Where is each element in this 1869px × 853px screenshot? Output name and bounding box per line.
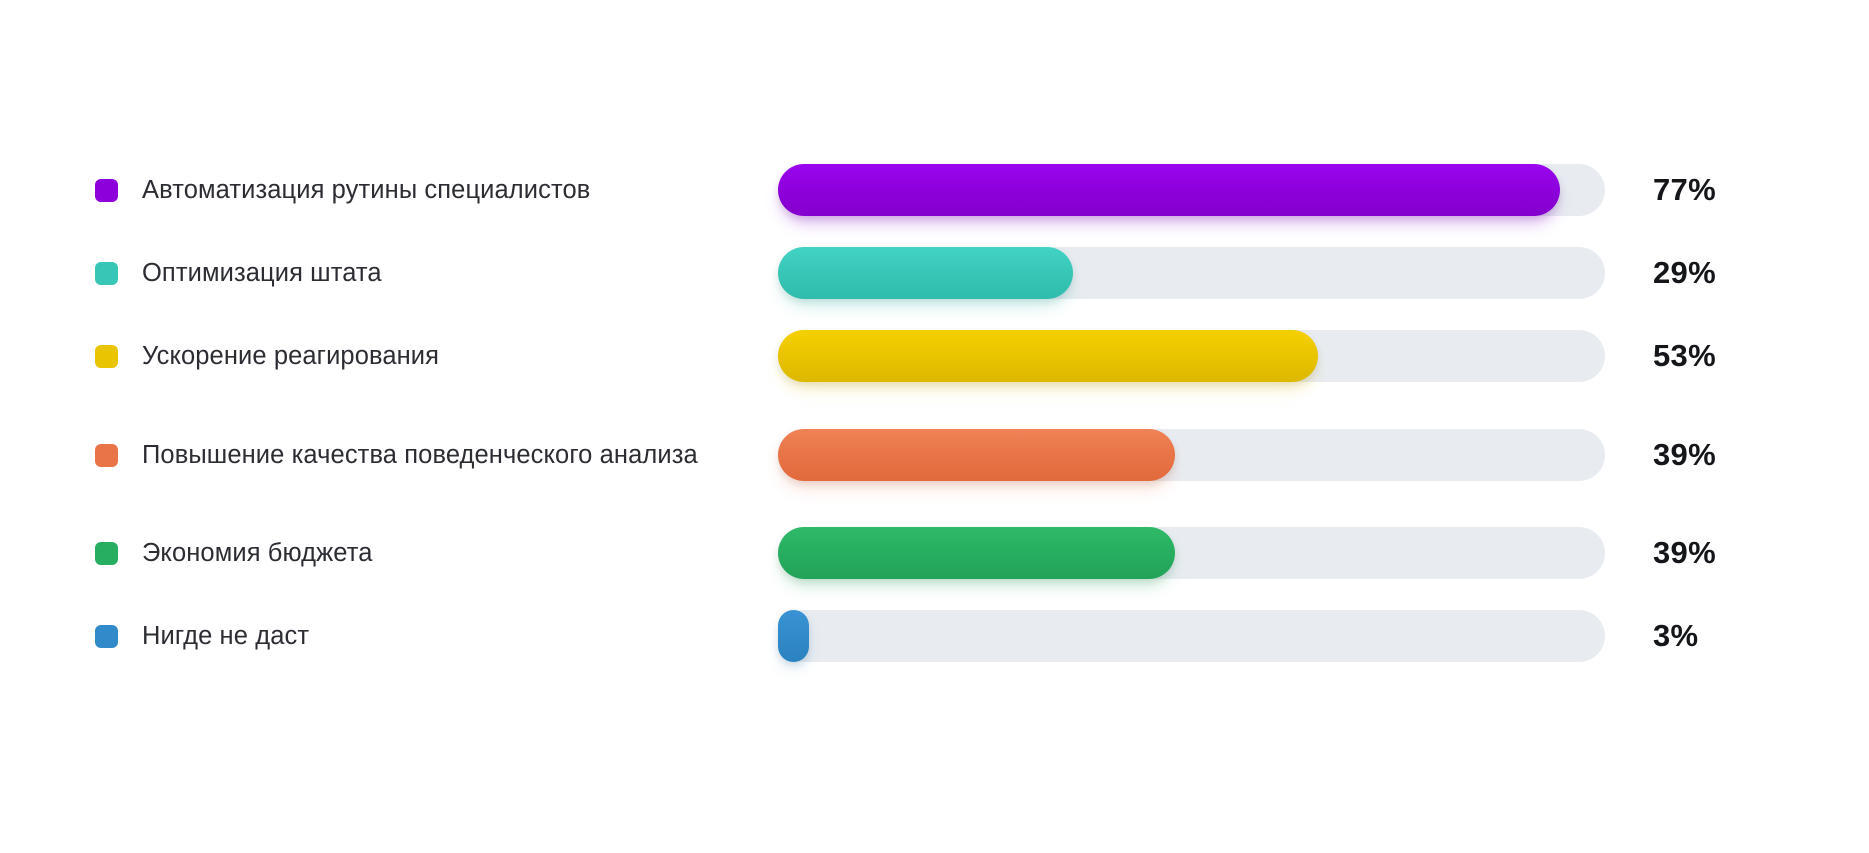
bar-row: Ускорение реагирования53%	[0, 321, 1869, 391]
bar-fill	[778, 247, 1073, 299]
legend-color-swatch-icon	[95, 179, 118, 202]
category-label: Автоматизация рутины специалистов	[142, 172, 590, 208]
bar-value-label: 3%	[1653, 601, 1793, 671]
bar-chart: Автоматизация рутины специалистов77%Опти…	[0, 0, 1869, 853]
legend-color-swatch-icon	[95, 625, 118, 648]
legend-color-swatch-icon	[95, 262, 118, 285]
bar-track	[778, 610, 1605, 662]
legend-item[interactable]: Повышение качества поведенческого анализ…	[95, 420, 755, 490]
bar-value-label: 39%	[1653, 420, 1793, 490]
legend-item[interactable]: Ускорение реагирования	[95, 321, 755, 391]
bar-row: Экономия бюджета39%	[0, 518, 1869, 588]
bar-fill	[778, 429, 1175, 481]
category-label: Оптимизация штата	[142, 255, 382, 291]
bar-value-label: 77%	[1653, 155, 1793, 225]
legend-item[interactable]: Экономия бюджета	[95, 518, 755, 588]
bar-track	[778, 164, 1605, 216]
bar-value-label: 29%	[1653, 238, 1793, 308]
category-label: Повышение качества поведенческого анализ…	[142, 437, 698, 473]
legend-item[interactable]: Автоматизация рутины специалистов	[95, 155, 755, 225]
legend-item[interactable]: Оптимизация штата	[95, 238, 755, 308]
bar-row: Оптимизация штата29%	[0, 238, 1869, 308]
category-label: Экономия бюджета	[142, 535, 373, 571]
bar-track	[778, 429, 1605, 481]
bar-fill	[778, 330, 1318, 382]
bar-value-label: 53%	[1653, 321, 1793, 391]
bar-fill	[778, 164, 1560, 216]
legend-item[interactable]: Нигде не даст	[95, 601, 755, 671]
bar-track	[778, 247, 1605, 299]
bar-row: Нигде не даст3%	[0, 601, 1869, 671]
legend-color-swatch-icon	[95, 542, 118, 565]
bar-value-label: 39%	[1653, 518, 1793, 588]
category-label: Нигде не даст	[142, 618, 309, 654]
legend-color-swatch-icon	[95, 345, 118, 368]
bar-track	[778, 527, 1605, 579]
bar-fill	[778, 527, 1175, 579]
bar-chart-rows: Автоматизация рутины специалистов77%Опти…	[0, 0, 1869, 853]
category-label: Ускорение реагирования	[142, 338, 439, 374]
legend-color-swatch-icon	[95, 444, 118, 467]
bar-fill	[778, 610, 809, 662]
bar-track	[778, 330, 1605, 382]
bar-row: Автоматизация рутины специалистов77%	[0, 155, 1869, 225]
bar-row: Повышение качества поведенческого анализ…	[0, 420, 1869, 490]
